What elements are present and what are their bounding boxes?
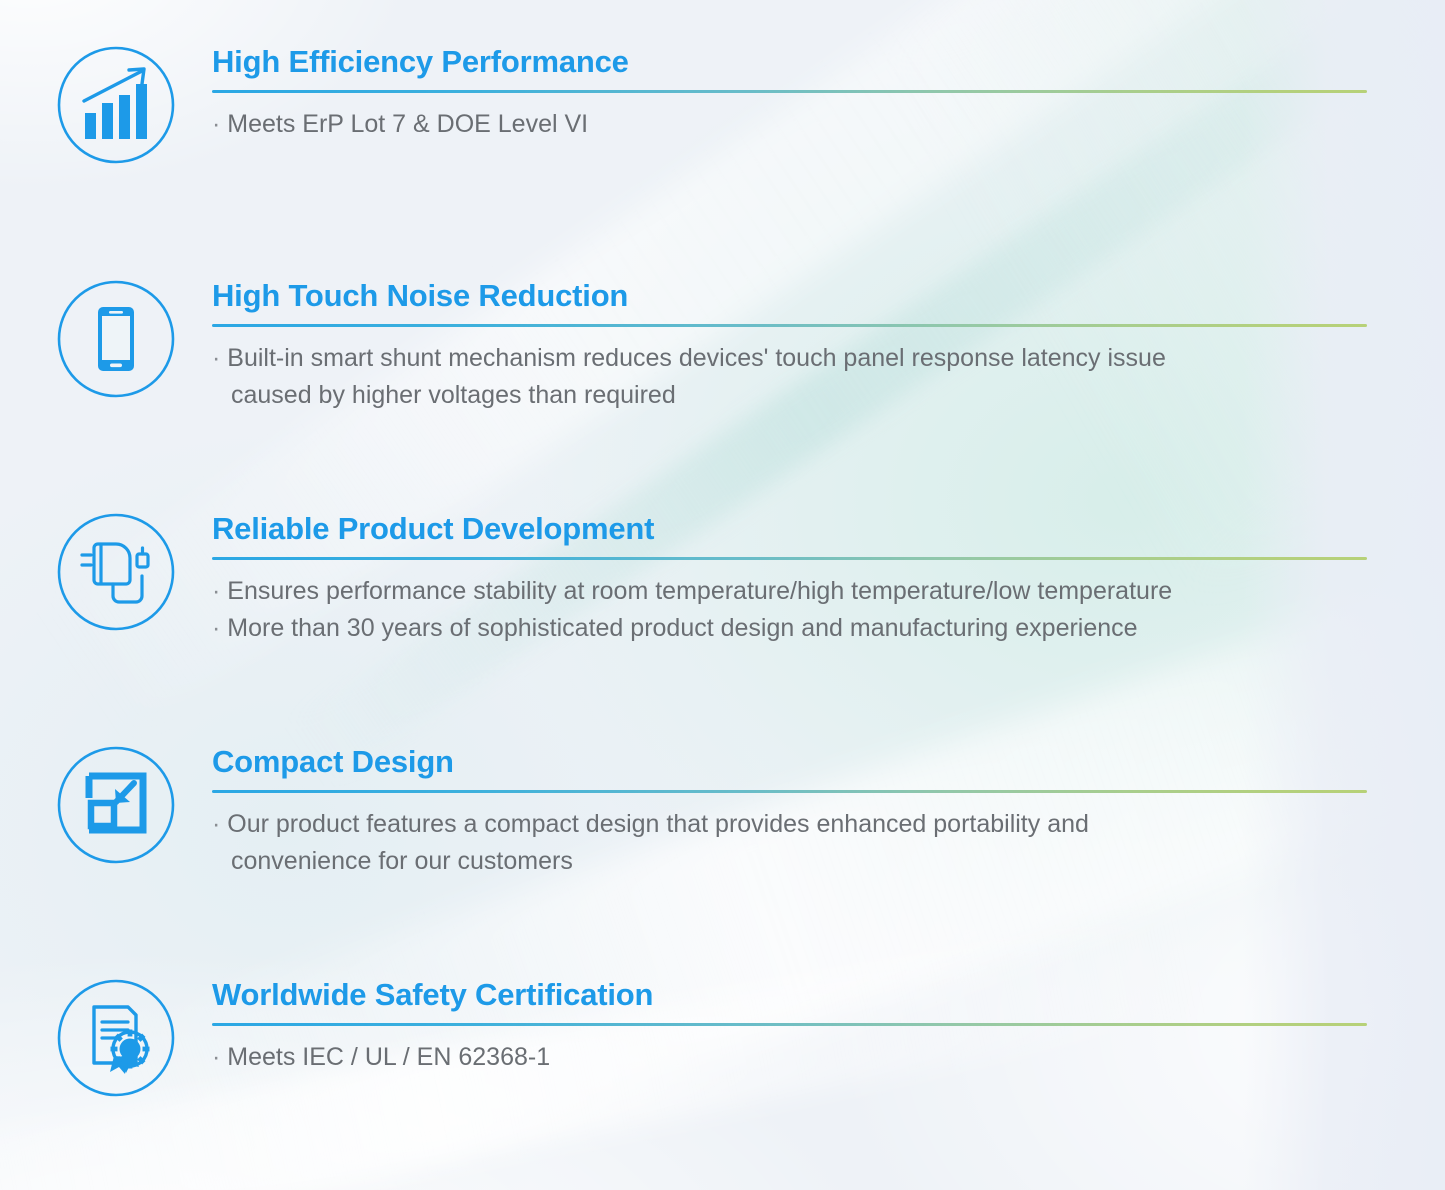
feature-bullets: · Built-in smart shunt mechanism reduces… [212, 340, 1367, 415]
bullet-marker: · [212, 614, 220, 642]
feature-content: High Touch Noise Reduction · Built-in sm… [212, 278, 1367, 415]
feature-bullets: · Our product features a compact design … [212, 806, 1367, 881]
feature-title: High Efficiency Performance [212, 44, 1367, 81]
bullet-text: Built-in smart shunt mechanism reduces d… [227, 344, 1166, 410]
bullet-line: · Our product features a compact design … [212, 806, 1367, 881]
bullet-text: Ensures performance stability at room te… [227, 577, 1172, 605]
bullet-marker: · [212, 577, 220, 605]
feature-bullets: · Meets IEC / UL / EN 62368-1 [212, 1039, 1367, 1077]
bullet-text: Meets IEC / UL / EN 62368-1 [227, 1043, 550, 1071]
feature-content: Reliable Product Development · Ensures p… [212, 511, 1367, 648]
power-adapter-icon [56, 512, 176, 632]
feature-title: Reliable Product Development [212, 511, 1367, 548]
feature-bullets: · Meets ErP Lot 7 & DOE Level VI [212, 106, 1367, 144]
feature-content: Worldwide Safety Certification · Meets I… [212, 977, 1367, 1076]
bullet-marker: · [212, 344, 220, 372]
feature-icon-wrap [55, 977, 177, 1099]
bullet-text: More than 30 years of sophisticated prod… [227, 614, 1137, 642]
smartphone-icon [56, 279, 176, 399]
feature-bullets: · Ensures performance stability at room … [212, 573, 1367, 648]
bullet-marker: · [212, 810, 220, 838]
feature-highlights-slide: High Efficiency Performance · Meets ErP … [0, 0, 1445, 1190]
feature-content: Compact Design · Our product features a … [212, 744, 1367, 881]
bullet-text: Our product features a compact design th… [227, 810, 1089, 876]
feature-divider [212, 790, 1367, 793]
feature-divider [212, 557, 1367, 560]
bullet-line: · Ensures performance stability at room … [212, 573, 1367, 611]
feature-icon-wrap [55, 511, 177, 633]
feature-title: High Touch Noise Reduction [212, 278, 1367, 315]
bullet-line: · Meets ErP Lot 7 & DOE Level VI [212, 106, 1367, 144]
compact-resize-icon [56, 745, 176, 865]
bullet-line: · More than 30 years of sophisticated pr… [212, 610, 1367, 648]
feature-list: High Efficiency Performance · Meets ErP … [0, 0, 1445, 1190]
feature-title: Worldwide Safety Certification [212, 977, 1367, 1014]
bullet-line: · Meets IEC / UL / EN 62368-1 [212, 1039, 1367, 1077]
bar-chart-growth-icon [56, 45, 176, 165]
feature-icon-wrap [55, 744, 177, 866]
bullet-line: · Built-in smart shunt mechanism reduces… [212, 340, 1367, 415]
feature-icon-wrap [55, 278, 177, 400]
bullet-text: Meets ErP Lot 7 & DOE Level VI [227, 110, 588, 138]
feature-icon-wrap [55, 44, 177, 166]
bullet-marker: · [212, 110, 220, 138]
feature-title: Compact Design [212, 744, 1367, 781]
certificate-award-icon [56, 978, 176, 1098]
bullet-marker: · [212, 1043, 220, 1071]
feature-content: High Efficiency Performance · Meets ErP … [212, 44, 1367, 143]
feature-divider [212, 324, 1367, 327]
feature-divider [212, 1023, 1367, 1026]
feature-divider [212, 90, 1367, 93]
